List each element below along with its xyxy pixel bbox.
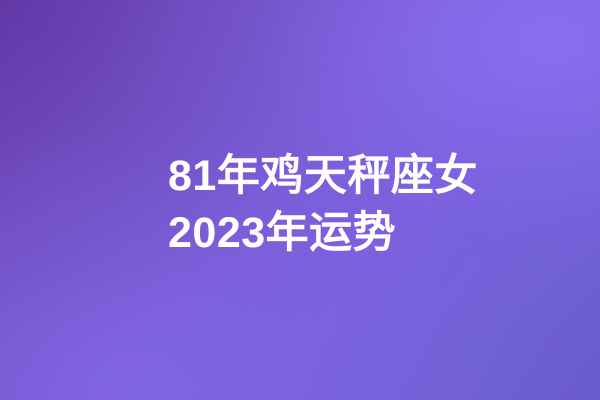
headline-text-block: 81年鸡天秤座女 2023年运势 — [168, 148, 568, 262]
headline-line-2: 2023年运势 — [168, 205, 568, 262]
headline-line-1: 81年鸡天秤座女 — [168, 148, 568, 205]
banner-card: 81年鸡天秤座女 2023年运势 — [0, 0, 600, 400]
